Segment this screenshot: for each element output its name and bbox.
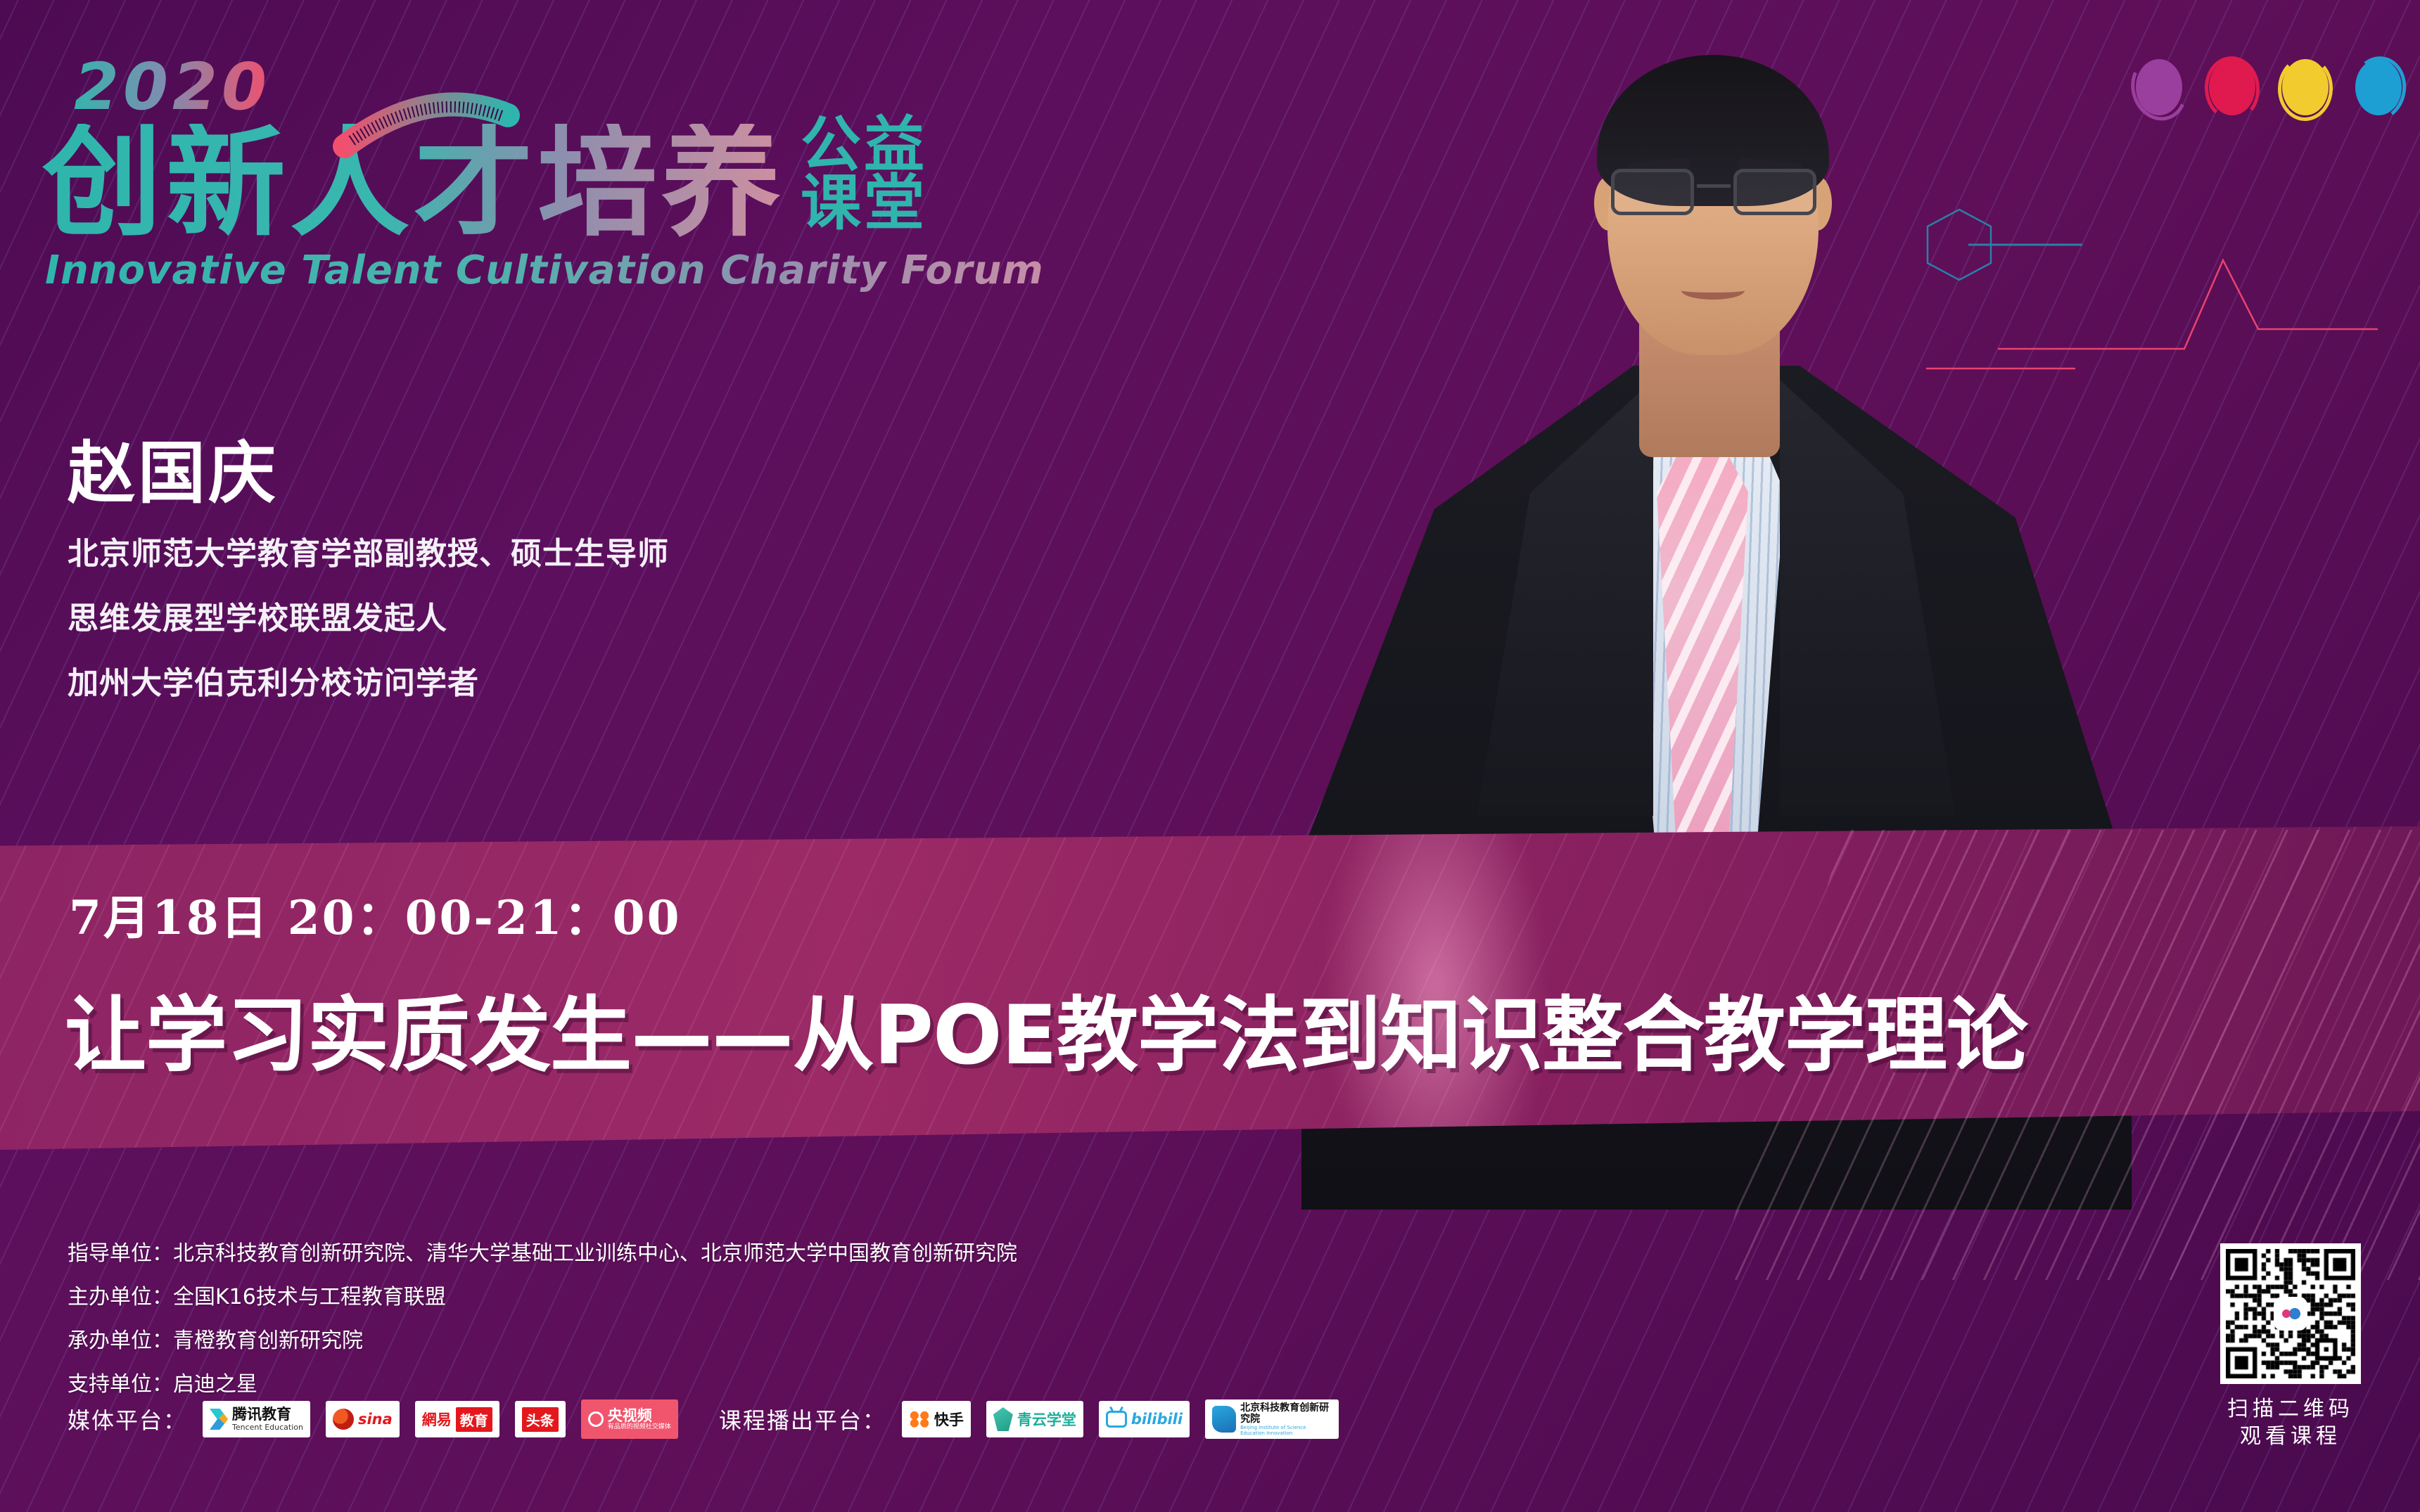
media-logo-tencent-education[interactable]: 腾讯教育 Tencent Education [203,1401,310,1437]
kuaishou-label: 快手 [934,1409,964,1430]
photo-glasses [1610,169,1818,218]
tencent-icon [210,1409,228,1430]
speaker-info: 赵国庆 北京师范大学教育学部副教授、硕士生导师 思维发展型学校联盟发起人 加州大… [68,436,1052,733]
event-logo: 2020 创新人才培养 公益 课堂 Innovative Talent Cult… [42,49,1140,293]
qingyun-label: 青云学堂 [1017,1409,1076,1430]
speaker-credential-1: 北京师范大学教育学部副教授、硕士生导师 [68,539,1052,570]
media-logo-yangshipin[interactable]: 央视频 有品质的视频社交媒体 [581,1399,678,1439]
qr-caption: 扫描二维码 观看课程 [2220,1395,2361,1450]
qr-caption-line1: 扫描二维码 [2220,1395,2361,1423]
media-platform-label: 媒体平台： [68,1403,187,1435]
netease-sublabel: 教育 [456,1407,492,1432]
photo-mouth [1681,281,1745,300]
netease-label: 網易 [422,1409,452,1430]
sina-label: sina [358,1411,393,1428]
credit-line-host: 主办单位：全国K16技术与工程教育联盟 [68,1287,1017,1308]
tencent-label: 腾讯教育 [232,1407,303,1423]
qr-code-card[interactable] [2220,1243,2361,1384]
credit-line-support: 支持单位：启迪之星 [68,1374,1017,1395]
poster-root: 2020 创新人才培养 公益 课堂 Innovative Talent Cult… [0,0,2420,1512]
media-logo-netease-education[interactable]: 網易 教育 [415,1401,499,1437]
logo-arc-ornament [324,79,528,163]
qingyun-icon [993,1407,1013,1431]
speaker-credential-3: 加州大学伯克利分校访问学者 [68,668,1052,699]
toutiao-label: 头条 [522,1407,559,1432]
kuaishou-icon [909,1410,930,1428]
session-title: 让学习实质发生——从POE教学法到知识整合教学理论 [65,969,2386,1087]
decor-circle-blue [2351,56,2406,121]
logo-title-en: Innovative Talent Cultivation Charity Fo… [45,248,1140,293]
credit-line-organizer: 承办单位：青橙教育创新研究院 [68,1331,1017,1352]
qr-caption-line2: 观看课程 [2220,1423,2361,1450]
logo-badge-line2: 课堂 [801,174,927,233]
media-logo-toutiao[interactable]: 头条 [515,1401,566,1437]
credit-line-guidance: 指导单位：北京科技教育创新研究院、清华大学基础工业训练中心、北京师范大学中国教育… [68,1243,1017,1264]
yangshipin-label: 央视频 [608,1408,671,1424]
logo-badge-line1: 公益 [801,116,927,174]
speaker-credentials: 北京师范大学教育学部副教授、硕士生导师 思维发展型学校联盟发起人 加州大学伯克利… [68,539,1052,699]
tencent-sublabel: Tencent Education [232,1423,303,1432]
bjsei-label: 北京科技教育创新研究院 [1240,1402,1332,1425]
decor-circle-yellow [2278,56,2333,121]
bilibili-label: bilibili [1131,1411,1183,1428]
qr-code-block[interactable]: 扫描二维码 观看课程 [2220,1243,2361,1450]
media-logo-sina[interactable]: sina [326,1401,400,1437]
speaker-credential-2: 思维发展型学校联盟发起人 [68,603,1052,634]
logo-badge: 公益 课堂 [801,116,927,243]
logo-year: 2020 [74,49,271,124]
bilibili-icon [1106,1411,1127,1428]
logo-main-row: 创新人才培养 公益 课堂 [42,116,1140,243]
yangshipin-icon [588,1411,604,1427]
bjsei-icon [1212,1406,1236,1433]
broadcast-logo-kuaishou[interactable]: 快手 [902,1401,971,1437]
broadcast-logo-bilibili[interactable]: bilibili [1099,1401,1190,1437]
sina-icon [333,1409,354,1430]
broadcast-logo-bjsei[interactable]: 北京科技教育创新研究院 Beijing Institute of Science… [1205,1399,1339,1439]
session-datetime: 7月18日 20：00-21：00 [69,880,682,948]
speaker-name: 赵国庆 [68,436,1052,511]
organizer-credits: 指导单位：北京科技教育创新研究院、清华大学基础工业训练中心、北京师范大学中国教育… [68,1243,1017,1418]
qr-center-logo [2275,1298,2306,1329]
bjsei-sublabel: Beijing Institute of Science Education I… [1240,1425,1332,1436]
broadcast-platform-label: 课程播出平台： [719,1403,886,1435]
platform-logos-row: 媒体平台： 腾讯教育 Tencent Education sina 網易 教育 … [68,1399,1339,1439]
broadcast-logo-qingyun-xuetang[interactable]: 青云学堂 [986,1401,1083,1437]
yangshipin-sublabel: 有品质的视频社交媒体 [608,1424,671,1431]
